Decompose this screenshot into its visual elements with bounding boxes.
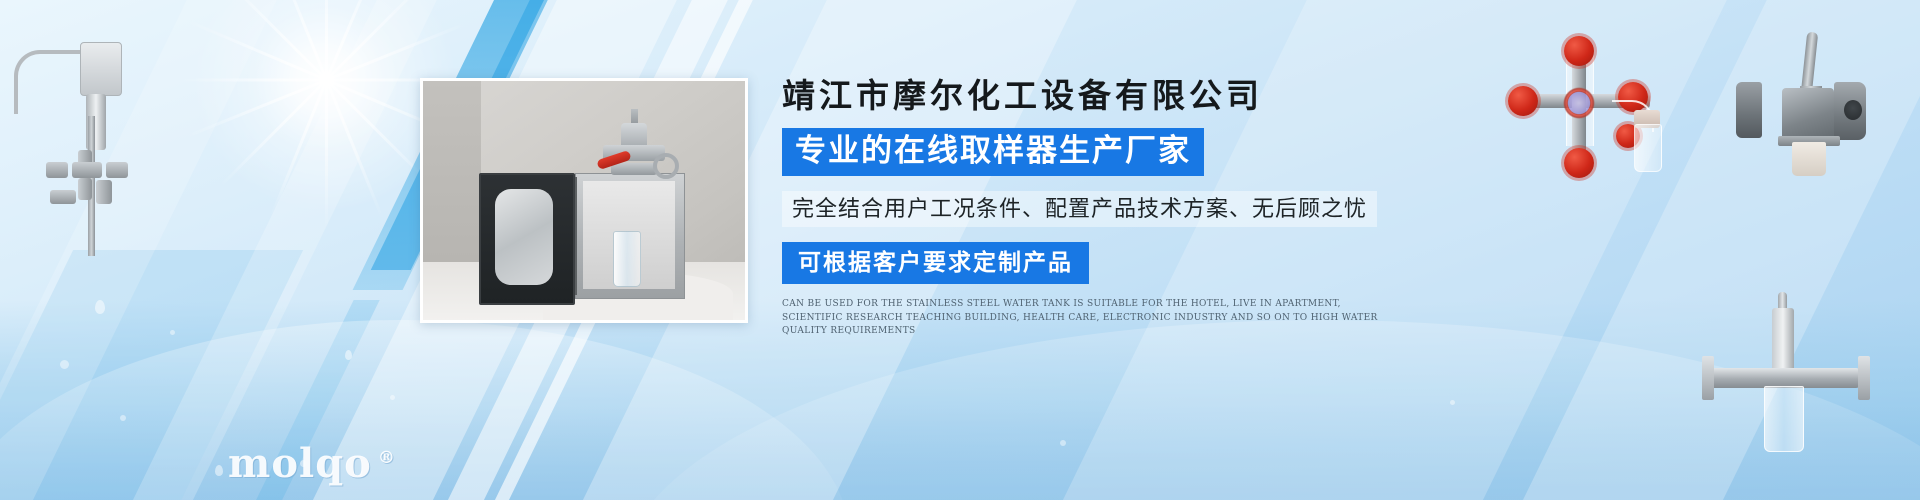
door-window: [495, 189, 553, 285]
pipe-flange: [1702, 356, 1714, 400]
valve-cluster: [46, 150, 132, 194]
red-handwheel: [1508, 86, 1538, 116]
instrument-housing: [80, 42, 122, 96]
brand-watermark: molqo®: [228, 440, 396, 487]
horizontal-pipe: [1710, 368, 1860, 388]
hand-wheel: [653, 153, 679, 179]
left-flange: [1736, 82, 1762, 138]
sample-bottle: [613, 231, 641, 287]
bubble: [170, 330, 175, 335]
water-droplet: [345, 350, 352, 360]
red-handwheel: [1564, 148, 1594, 178]
headline-text-block: 靖江市摩尔化工设备有限公司 专业的在线取样器生产厂家 完全结合用户工况条件、配置…: [782, 76, 1422, 339]
bubble: [1060, 440, 1066, 446]
subheadline: 完全结合用户工况条件、配置产品技术方案、无后顾之忧: [782, 191, 1377, 227]
red-handwheel: [1564, 36, 1594, 66]
promo-banner: 靖江市摩尔化工设备有限公司 专业的在线取样器生产厂家 完全结合用户工况条件、配置…: [0, 0, 1920, 500]
watermark-text: molqo: [228, 440, 372, 487]
cabinet-door: [479, 173, 575, 305]
product-photo-card[interactable]: [420, 78, 748, 323]
left-product-image: [0, 20, 170, 310]
bubble: [120, 415, 126, 421]
water-droplet: [215, 465, 223, 476]
lever-handle: [1801, 32, 1818, 95]
bubble: [60, 360, 69, 369]
top-valve-assembly: [599, 109, 669, 179]
flange-bore: [1844, 100, 1862, 120]
valve-flange: [611, 163, 657, 175]
pipe-flange: [1858, 356, 1870, 400]
bubble: [390, 395, 395, 400]
english-description: CAN BE USED FOR THE STAINLESS STEEL WATE…: [782, 298, 1392, 339]
certification-seal: [1562, 86, 1596, 120]
sight-glass: [1764, 386, 1804, 452]
sample-cup: [1792, 142, 1826, 176]
company-name: 靖江市摩尔化工设备有限公司: [782, 76, 1422, 116]
callout-badge: 可根据客户要求定制产品: [782, 242, 1089, 284]
bubble: [1450, 400, 1455, 405]
right-lever-valve-product: [1730, 30, 1880, 195]
bottom-right-sampler-product: [1700, 290, 1880, 470]
sample-bottle: [1634, 124, 1662, 172]
right-cross-valve-product: [1500, 38, 1670, 163]
photo-background: [423, 81, 745, 320]
headline-highlight: 专业的在线取样器生产厂家: [782, 128, 1204, 176]
registered-mark: ®: [378, 448, 396, 468]
